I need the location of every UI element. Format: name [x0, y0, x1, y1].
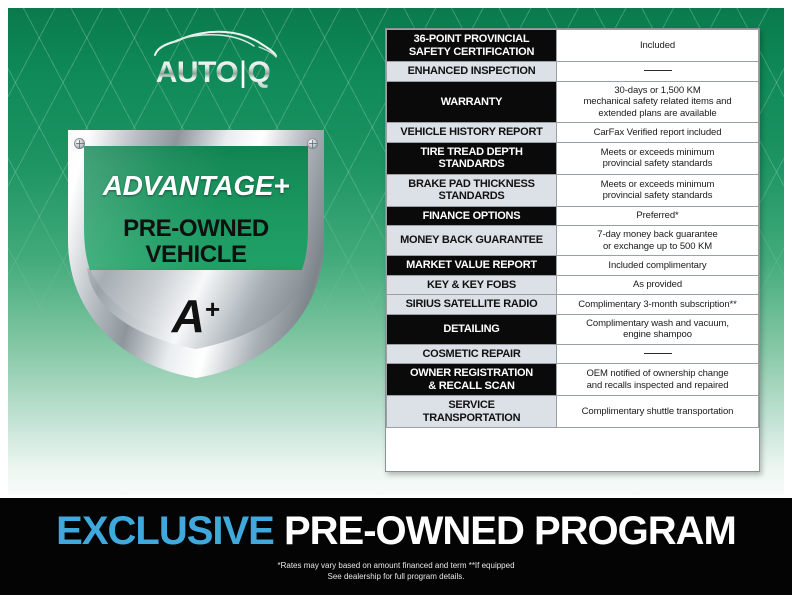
advantage-plus-poster: AUTO|Q ADVANTAGE+ PRE-OWNED VEHICLE A+ 3…	[0, 0, 792, 612]
table-row: 36-POINT PROVINCIALSAFETY CERTIFICATIONI…	[387, 30, 759, 62]
feature-label-cell: TIRE TREAD DEPTHSTANDARDS	[387, 142, 557, 174]
autoiq-wordmark: AUTO|Q	[133, 56, 293, 90]
banner-headline-rest: PRE-OWNED PROGRAM	[274, 509, 736, 553]
feature-value-cell: CarFax Verified report included	[557, 123, 759, 143]
feature-label-cell: SERVICETRANSPORTATION	[387, 396, 557, 428]
feature-value-cell: Complimentary wash and vacuum,engine sha…	[557, 314, 759, 344]
table-row: BRAKE PAD THICKNESSSTANDARDSMeets or exc…	[387, 174, 759, 206]
screw-icon-top-right	[307, 138, 318, 149]
features-table-panel: 36-POINT PROVINCIALSAFETY CERTIFICATIONI…	[385, 28, 760, 472]
fine-print-line-1: *Rates may vary based on amount financed…	[0, 560, 792, 571]
feature-label-cell: DETAILING	[387, 314, 557, 344]
feature-label-cell: ENHANCED INSPECTION	[387, 62, 557, 82]
feature-label-cell: KEY & KEY FOBS	[387, 275, 557, 295]
table-row: KEY & KEY FOBSAs provided	[387, 275, 759, 295]
badge-title: ADVANTAGE+	[56, 170, 336, 202]
table-row: WARRANTY30-days or 1,500 KMmechanical sa…	[387, 81, 759, 123]
feature-value-cell: Complimentary 3-month subscription**	[557, 295, 759, 315]
features-table: 36-POINT PROVINCIALSAFETY CERTIFICATIONI…	[386, 29, 759, 428]
badge-grade-letter: A	[172, 290, 205, 342]
badge-subtitle-line2: VEHICLE	[56, 242, 336, 268]
empty-dash-icon	[644, 70, 672, 71]
bottom-banner: EXCLUSIVE PRE-OWNED PROGRAM *Rates may v…	[0, 498, 792, 595]
feature-label-cell: MONEY BACK GUARANTEE	[387, 226, 557, 256]
autoiq-logo: AUTO|Q	[133, 28, 293, 94]
feature-value-cell: As provided	[557, 275, 759, 295]
feature-value-cell: Included	[557, 30, 759, 62]
feature-value-cell: Meets or exceeds minimumprovincial safet…	[557, 174, 759, 206]
table-row: ENHANCED INSPECTION	[387, 62, 759, 82]
feature-value-cell	[557, 62, 759, 82]
feature-value-cell	[557, 344, 759, 364]
table-row: SIRIUS SATELLITE RADIOComplimentary 3-mo…	[387, 295, 759, 315]
autoiq-word-q: Q	[247, 56, 270, 89]
table-row: OWNER REGISTRATION& RECALL SCANOEM notif…	[387, 364, 759, 396]
feature-label-cell: SIRIUS SATELLITE RADIO	[387, 295, 557, 315]
feature-value-cell: Preferred*	[557, 206, 759, 226]
banner-headline-highlight: EXCLUSIVE	[56, 509, 274, 553]
banner-fine-print: *Rates may vary based on amount financed…	[0, 560, 792, 582]
badge-subtitle: PRE-OWNED VEHICLE	[56, 216, 336, 268]
autoiq-word-auto: AUTO	[156, 56, 238, 89]
table-row: MONEY BACK GUARANTEE7-day money back gua…	[387, 226, 759, 256]
badge-subtitle-line1: PRE-OWNED	[56, 216, 336, 242]
table-row: TIRE TREAD DEPTHSTANDARDSMeets or exceed…	[387, 142, 759, 174]
feature-label-cell: FINANCE OPTIONS	[387, 206, 557, 226]
badge-grade-logo: A+	[56, 286, 336, 339]
feature-label-cell: VEHICLE HISTORY REPORT	[387, 123, 557, 143]
table-row: COSMETIC REPAIR	[387, 344, 759, 364]
feature-value-cell: OEM notified of ownership changeand reca…	[557, 364, 759, 396]
feature-value-cell: Complimentary shuttle transportation	[557, 396, 759, 428]
badge-grade-plus: +	[205, 294, 220, 324]
table-row: DETAILINGComplimentary wash and vacuum,e…	[387, 314, 759, 344]
empty-dash-icon	[644, 353, 672, 354]
feature-value-cell: 7-day money back guaranteeor exchange up…	[557, 226, 759, 256]
features-table-body: 36-POINT PROVINCIALSAFETY CERTIFICATIONI…	[387, 30, 759, 428]
table-row: VEHICLE HISTORY REPORTCarFax Verified re…	[387, 123, 759, 143]
table-row: FINANCE OPTIONSPreferred*	[387, 206, 759, 226]
banner-headline: EXCLUSIVE PRE-OWNED PROGRAM	[0, 508, 792, 554]
feature-label-cell: OWNER REGISTRATION& RECALL SCAN	[387, 364, 557, 396]
feature-label-cell: 36-POINT PROVINCIALSAFETY CERTIFICATION	[387, 30, 557, 62]
feature-value-cell: Included complimentary	[557, 256, 759, 276]
advantage-shield-badge: ADVANTAGE+ PRE-OWNED VEHICLE A+	[56, 120, 336, 384]
feature-label-cell: WARRANTY	[387, 81, 557, 123]
feature-value-cell: Meets or exceeds minimumprovincial safet…	[557, 142, 759, 174]
feature-label-cell: COSMETIC REPAIR	[387, 344, 557, 364]
feature-value-cell: 30-days or 1,500 KMmechanical safety rel…	[557, 81, 759, 123]
screw-icon-top-left	[74, 138, 85, 149]
fine-print-line-2: See dealership for full program details.	[0, 571, 792, 582]
feature-label-cell: MARKET VALUE REPORT	[387, 256, 557, 276]
table-row: MARKET VALUE REPORTIncluded complimentar…	[387, 256, 759, 276]
feature-label-cell: BRAKE PAD THICKNESSSTANDARDS	[387, 174, 557, 206]
table-row: SERVICETRANSPORTATIONComplimentary shutt…	[387, 396, 759, 428]
